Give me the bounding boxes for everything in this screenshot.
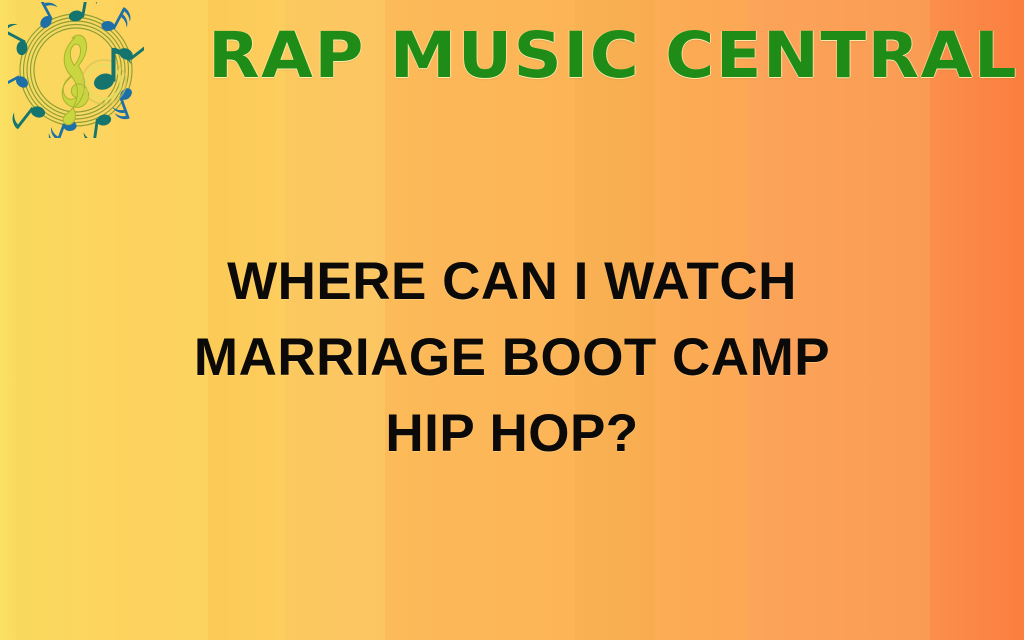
headline: WHERE CAN I WATCH MARRIAGE BOOT CAMP HIP… — [0, 244, 1024, 472]
site-title: RAP MUSIC CENTRAL — [208, 24, 1018, 87]
headline-line-1: WHERE CAN I WATCH — [40, 244, 984, 320]
rap-music-central-banner: RAP MUSIC CENTRAL WHERE CAN I WATCH MARR… — [0, 0, 1024, 640]
music-notes-circle-logo — [8, 2, 144, 138]
headline-line-3: HIP HOP? — [40, 396, 984, 472]
headline-line-2: MARRIAGE BOOT CAMP — [40, 320, 984, 396]
